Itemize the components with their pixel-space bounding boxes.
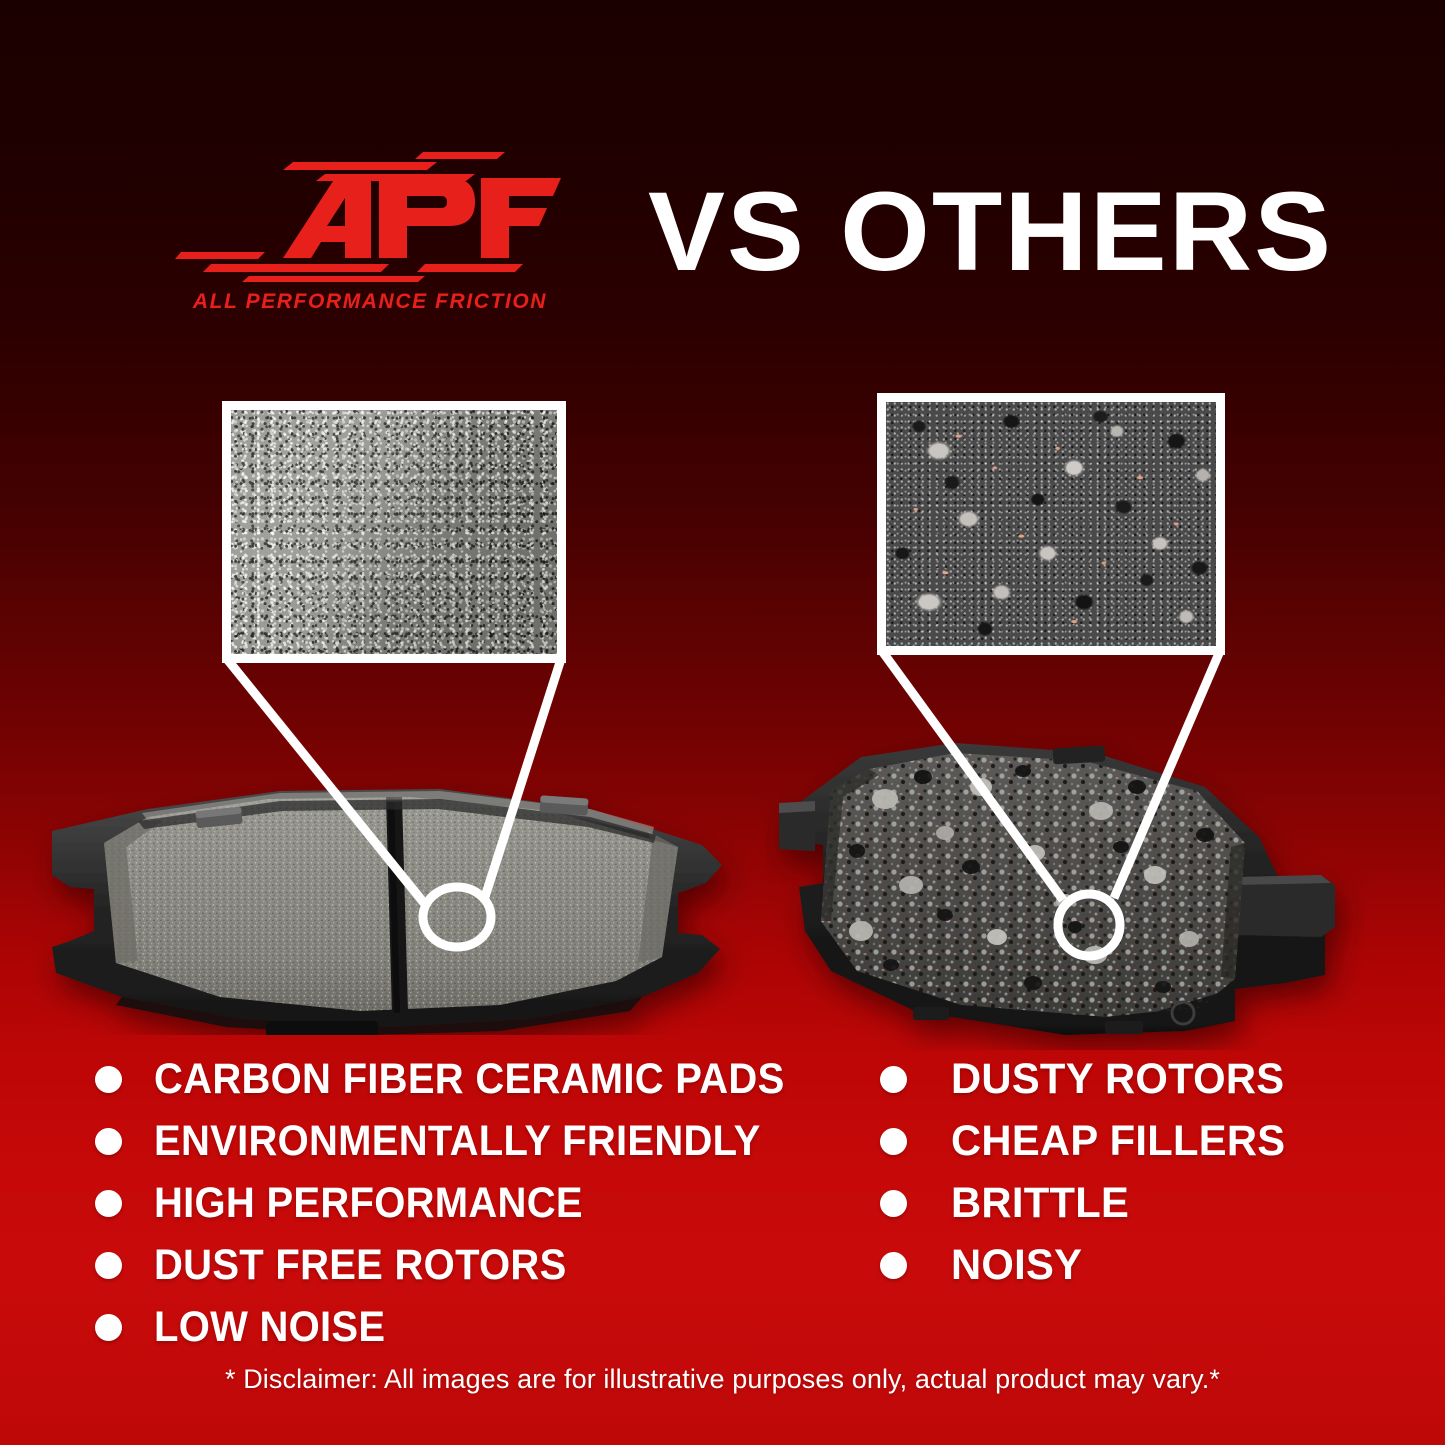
poster-header: ALL PERFORMANCE FRICTION VS OTHERS xyxy=(0,0,1445,360)
apf-logo-icon xyxy=(175,148,565,298)
disclaimer-text: * Disclaimer: All images are for illustr… xyxy=(0,1364,1445,1395)
list-item: DUSTY ROTORS xyxy=(880,1048,1360,1110)
product-comparison-poster: ALL PERFORMANCE FRICTION VS OTHERS xyxy=(0,0,1445,1445)
bullet-dot-icon xyxy=(880,1128,907,1155)
bullet-dot-icon xyxy=(880,1066,907,1093)
list-item-label: NOISY xyxy=(951,1242,1082,1288)
list-item: BRITTLE xyxy=(880,1172,1360,1234)
others-brake-pad-graphic xyxy=(765,725,1365,1050)
bullet-dot-icon xyxy=(95,1066,122,1093)
list-item: HIGH PERFORMANCE xyxy=(95,1172,855,1234)
list-item-label: LOW NOISE xyxy=(154,1304,385,1350)
brand-tagline: ALL PERFORMANCE FRICTION xyxy=(175,290,565,314)
bullet-dot-icon xyxy=(880,1190,907,1217)
comparison-title: VS OTHERS xyxy=(648,176,1333,288)
list-item-label: CHEAP FILLERS xyxy=(951,1118,1285,1164)
list-item-label: DUST FREE ROTORS xyxy=(154,1242,567,1288)
apf-feature-list: CARBON FIBER CERAMIC PADS ENVIRONMENTALL… xyxy=(95,1048,855,1358)
brand-logo: ALL PERFORMANCE FRICTION xyxy=(175,148,565,338)
list-item: CARBON FIBER CERAMIC PADS xyxy=(95,1048,855,1110)
others-texture-closeup-frame xyxy=(877,393,1225,655)
list-item-label: DUSTY ROTORS xyxy=(951,1056,1284,1102)
list-item-label: HIGH PERFORMANCE xyxy=(154,1180,583,1226)
list-item: CHEAP FILLERS xyxy=(880,1110,1360,1172)
apf-texture-closeup-frame xyxy=(222,401,566,663)
bullet-dot-icon xyxy=(95,1190,122,1217)
apf-texture-swatch xyxy=(231,410,557,654)
list-item-label: CARBON FIBER CERAMIC PADS xyxy=(154,1056,785,1102)
apf-brake-pad-image xyxy=(30,735,750,1035)
bullet-dot-icon xyxy=(95,1314,122,1341)
others-brake-pad-image xyxy=(765,725,1365,1050)
list-item-label: BRITTLE xyxy=(951,1180,1129,1226)
others-texture-swatch xyxy=(886,402,1216,646)
list-item-label: ENVIRONMENTALLY FRIENDLY xyxy=(154,1118,761,1164)
apf-brake-pad-graphic xyxy=(30,735,750,1035)
bullet-dot-icon xyxy=(880,1252,907,1279)
others-feature-list: DUSTY ROTORS CHEAP FILLERS BRITTLE NOISY xyxy=(880,1048,1360,1296)
bullet-dot-icon xyxy=(95,1252,122,1279)
list-item: ENVIRONMENTALLY FRIENDLY xyxy=(95,1110,855,1172)
list-item: NOISY xyxy=(880,1234,1360,1296)
list-item: LOW NOISE xyxy=(95,1296,855,1358)
list-item: DUST FREE ROTORS xyxy=(95,1234,855,1296)
bullet-dot-icon xyxy=(95,1128,122,1155)
